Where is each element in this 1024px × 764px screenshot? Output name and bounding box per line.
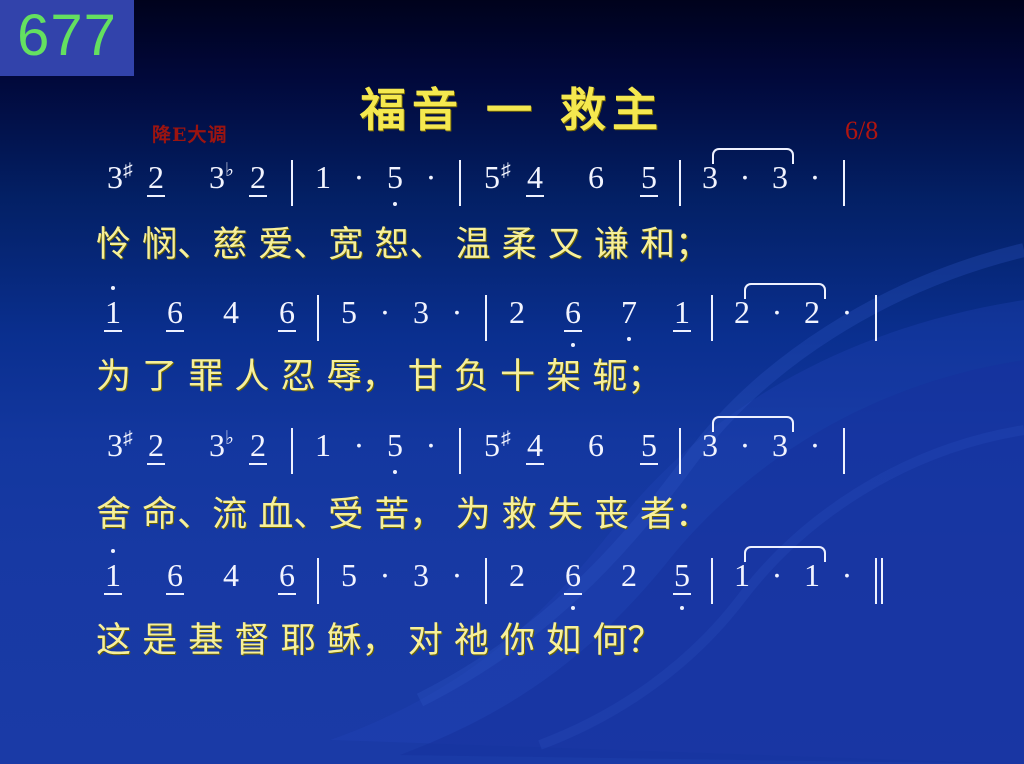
note: 1 bbox=[796, 558, 828, 592]
barline bbox=[679, 428, 681, 474]
note: 6 bbox=[270, 295, 304, 332]
time-signature-label: 6/8 bbox=[845, 116, 878, 146]
note: 6 bbox=[556, 295, 590, 332]
note: ♭2 bbox=[238, 428, 278, 465]
note: 2 bbox=[796, 295, 828, 329]
note: 1 bbox=[666, 295, 698, 332]
note: 6 bbox=[556, 558, 590, 595]
measure: 2 6 7 1 bbox=[500, 295, 698, 332]
note: 5 bbox=[378, 428, 412, 462]
measure: 1 6 4 6 bbox=[98, 295, 304, 332]
hymn-slide: 677 福音 一 救主 降E大调 6/8 3 ♯2 3 ♭2 1 · 5 · 5… bbox=[0, 0, 1024, 764]
barline bbox=[679, 160, 681, 206]
measure: 3 · 3 · bbox=[694, 428, 830, 462]
note: 2 bbox=[500, 295, 534, 329]
note: 4 bbox=[214, 558, 248, 592]
note: 2 bbox=[612, 558, 646, 592]
final-barline bbox=[875, 558, 884, 604]
lyrics-line-2: 为 了 罪 人 忍 辱， 甘 负 十 架 轭； bbox=[96, 348, 996, 400]
lyrics-line-4: 这 是 基 督 耶 稣， 对 祂 你 如 何？ bbox=[96, 612, 996, 664]
octave-up-dot-icon bbox=[111, 549, 115, 553]
measure: 2 · 2 · bbox=[726, 295, 862, 329]
barline bbox=[291, 160, 293, 206]
note: ♭2 bbox=[238, 160, 278, 197]
note: 5 bbox=[332, 295, 366, 329]
note: 3 bbox=[404, 558, 438, 592]
augmentation-dot: · bbox=[344, 428, 374, 462]
lyrics-line-3: 舍 命、流 血、受 苦， 为 救 失 丧 者： bbox=[96, 486, 996, 538]
barline bbox=[711, 295, 713, 341]
measure: 3 · 3 · bbox=[694, 160, 830, 194]
augmentation-dot: · bbox=[800, 160, 830, 194]
augmentation-dot: · bbox=[416, 428, 446, 462]
measure: 5 · 3 · bbox=[332, 295, 472, 329]
notation-line-3: 3 ♯2 3 ♭2 1 · 5 · 5 ♯4 6 5 3 · bbox=[98, 428, 928, 486]
notation-line-1: 3 ♯2 3 ♭2 1 · 5 · 5 ♯4 6 5 3 · bbox=[98, 160, 928, 218]
lyrics-line-1: 怜 悯、慈 爱、宽 恕、 温 柔 又 谦 和； bbox=[96, 216, 996, 268]
hymn-number: 677 bbox=[17, 7, 117, 65]
note: 5 bbox=[666, 558, 698, 595]
barline bbox=[485, 558, 487, 604]
barline bbox=[711, 558, 713, 604]
octave-down-dot-icon bbox=[393, 470, 397, 474]
augmentation-dot: · bbox=[442, 558, 472, 592]
note: 3 bbox=[764, 160, 796, 194]
key-signature-label: 降E大调 bbox=[152, 120, 227, 147]
augmentation-dot: · bbox=[416, 160, 446, 194]
notation-line-4: 1 6 4 6 5 · 3 · 2 6 2 5 bbox=[98, 558, 928, 616]
measure: 2 6 2 5 bbox=[500, 558, 698, 595]
barline bbox=[317, 295, 319, 341]
note: 6 bbox=[578, 160, 614, 194]
note: ♯2 bbox=[136, 428, 176, 465]
measure: 3 ♯2 3 ♭2 bbox=[98, 428, 278, 465]
note: 4 bbox=[214, 295, 248, 329]
measure: 5 · 3 · bbox=[332, 558, 472, 592]
octave-down-dot-icon bbox=[680, 606, 684, 610]
note: 6 bbox=[270, 558, 304, 595]
note: 1 bbox=[726, 558, 758, 592]
measure: 5 ♯4 6 5 bbox=[474, 160, 666, 197]
note: 2 bbox=[726, 295, 758, 329]
flat-icon: ♭ bbox=[225, 161, 234, 180]
augmentation-dot: · bbox=[762, 295, 792, 329]
measure: 3 ♯2 3 ♭2 bbox=[98, 160, 278, 197]
barline bbox=[843, 428, 845, 474]
note: 1 bbox=[306, 428, 340, 462]
augmentation-dot: · bbox=[442, 295, 472, 329]
augmentation-dot: · bbox=[730, 160, 760, 194]
flat-icon: ♭ bbox=[225, 429, 234, 448]
notation-line-2: 1 6 4 6 5 · 3 · 2 6 7 1 bbox=[98, 295, 928, 353]
octave-down-dot-icon bbox=[627, 337, 631, 341]
note: 1 bbox=[98, 558, 128, 595]
octave-down-dot-icon bbox=[393, 202, 397, 206]
note: 3 bbox=[694, 428, 726, 462]
note: 5 bbox=[632, 428, 666, 465]
measure: 1 · 5 · bbox=[306, 160, 446, 194]
augmentation-dot: · bbox=[832, 558, 862, 592]
note: ♯4 bbox=[514, 428, 556, 465]
augmentation-dot: · bbox=[800, 428, 830, 462]
note: 3 bbox=[404, 295, 438, 329]
note: 2 bbox=[500, 558, 534, 592]
note: ♯2 bbox=[136, 160, 176, 197]
note: 1 bbox=[98, 295, 128, 332]
note: 3 bbox=[764, 428, 796, 462]
octave-up-dot-icon bbox=[111, 286, 115, 290]
barline bbox=[291, 428, 293, 474]
barline bbox=[843, 160, 845, 206]
note: 5 bbox=[378, 160, 412, 194]
measure: 1 6 4 6 bbox=[98, 558, 304, 595]
sharp-icon: ♯ bbox=[123, 429, 133, 448]
note: ♯4 bbox=[514, 160, 556, 197]
augmentation-dot: · bbox=[344, 160, 374, 194]
note: 5 bbox=[632, 160, 666, 197]
barline bbox=[317, 558, 319, 604]
augmentation-dot: · bbox=[762, 558, 792, 592]
note: 6 bbox=[578, 428, 614, 462]
augmentation-dot: · bbox=[832, 295, 862, 329]
note: 3 bbox=[694, 160, 726, 194]
note: 5 bbox=[332, 558, 366, 592]
measure: 5 ♯4 6 5 bbox=[474, 428, 666, 465]
barline bbox=[459, 160, 461, 206]
hymn-number-badge: 677 bbox=[0, 0, 134, 76]
note: 6 bbox=[158, 558, 192, 595]
measure: 1 · 5 · bbox=[306, 428, 446, 462]
note: 6 bbox=[158, 295, 192, 332]
note: 1 bbox=[306, 160, 340, 194]
sharp-icon: ♯ bbox=[501, 429, 511, 448]
barline bbox=[875, 295, 877, 341]
augmentation-dot: · bbox=[370, 295, 400, 329]
barline bbox=[485, 295, 487, 341]
sharp-icon: ♯ bbox=[501, 161, 511, 180]
measure: 1 · 1 · bbox=[726, 558, 862, 592]
octave-down-dot-icon bbox=[571, 343, 575, 347]
octave-down-dot-icon bbox=[571, 606, 575, 610]
note: 7 bbox=[612, 295, 646, 329]
sharp-icon: ♯ bbox=[123, 161, 133, 180]
augmentation-dot: · bbox=[370, 558, 400, 592]
augmentation-dot: · bbox=[730, 428, 760, 462]
barline bbox=[459, 428, 461, 474]
